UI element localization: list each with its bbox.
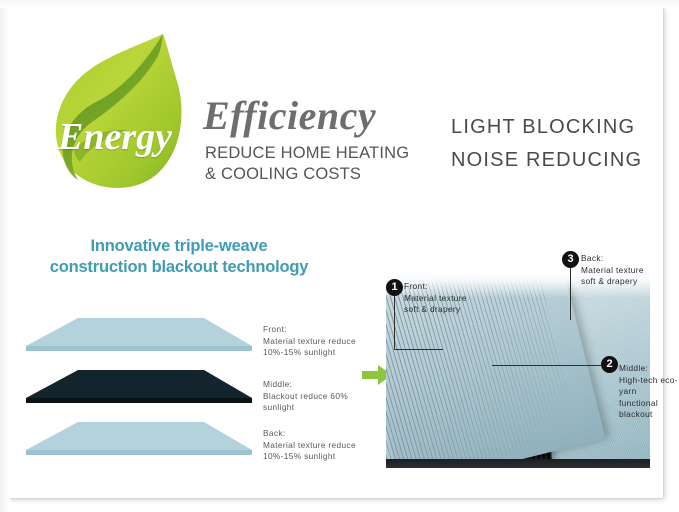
callout-2-badge: 2	[601, 356, 618, 373]
callout-1-leader-vertical	[394, 296, 395, 350]
subtitle-line-2: & COOLING COSTS	[205, 164, 409, 185]
layer-label-middle: Middle: Blackout reduce 60% sunlight	[263, 379, 348, 414]
headline-subtitle: REDUCE HOME HEATING & COOLING COSTS	[205, 143, 409, 185]
callout-2-label: Middle: High-tech eco-yarn functional bl…	[619, 363, 679, 421]
section-heading-line-1: Innovative triple-weave	[14, 236, 344, 257]
page-edge-top	[0, 0, 679, 8]
energy-logo: Energy	[44, 28, 200, 200]
layer-label-back: Back: Material texture reduce 10%-15% su…	[263, 428, 356, 463]
callout-3-badge: 3	[562, 251, 579, 268]
callout-1-badge: 1	[386, 279, 403, 296]
infographic-page: Energy Efficiency REDUCE HOME HEATING & …	[0, 0, 679, 512]
claim-light-blocking: LIGHT BLOCKING	[451, 111, 642, 144]
layer-diagram	[26, 312, 252, 474]
logo-wordmark: Energy	[58, 118, 198, 156]
layer-slab-front	[26, 318, 252, 352]
callout-2-leader-horizontal	[492, 365, 601, 366]
section-heading: Innovative triple-weave construction bla…	[14, 236, 344, 278]
subtitle-line-1: REDUCE HOME HEATING	[205, 143, 409, 164]
product-claims: LIGHT BLOCKING NOISE REDUCING	[451, 111, 642, 177]
layer-slab-back	[26, 422, 252, 456]
claim-noise-reducing: NOISE REDUCING	[451, 144, 642, 177]
page-edge-left	[0, 0, 10, 512]
leaf-icon	[50, 32, 190, 194]
callout-3-leader-vertical	[570, 268, 571, 320]
layer-slab-middle	[26, 370, 252, 404]
section-heading-line-2: construction blackout technology	[14, 257, 344, 278]
callout-1-label: Front: Material texture soft & drapery	[404, 281, 467, 316]
headline-efficiency: Efficiency	[203, 96, 376, 136]
callout-3-label: Back: Material texture soft & drapery	[581, 253, 644, 288]
callout-1-leader-horizontal	[394, 349, 443, 350]
layer-label-front: Front: Material texture reduce 10%-15% s…	[263, 324, 356, 359]
photo-bottom-bar	[386, 459, 650, 468]
